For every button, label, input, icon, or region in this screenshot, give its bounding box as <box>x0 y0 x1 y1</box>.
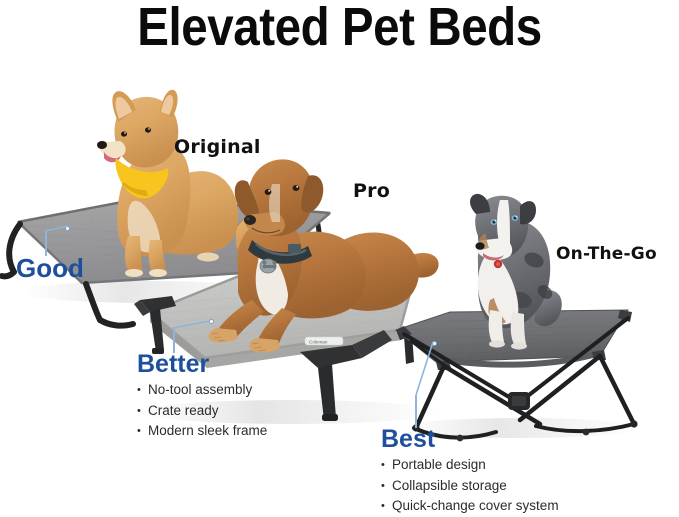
leader-diagonal-better <box>172 318 212 330</box>
product-comparison-image: Coleman <box>0 0 679 507</box>
dog-tag <box>260 259 276 273</box>
rating-label-best: Best <box>381 427 559 452</box>
pro-leg-left <box>134 296 176 354</box>
dog-australian-shepherd <box>470 194 562 350</box>
product-label-on-the-go: On-The-Go <box>556 244 657 264</box>
feature-item: Modern sleek frame <box>137 421 267 442</box>
callout-good: Good <box>16 255 84 281</box>
feature-item: Crate ready <box>137 401 267 422</box>
dog-brown-mix <box>209 159 439 352</box>
dog-shiba-inu <box>97 90 263 277</box>
product-label-original: Original <box>174 136 261 158</box>
leader-diagonal-good <box>44 224 70 232</box>
feature-item: No-tool assembly <box>137 380 267 401</box>
feature-list-on-the-go: Portable design Collapsible storage Quic… <box>381 455 559 517</box>
callout-best: Best Portable design Collapsible storage… <box>381 427 559 517</box>
feature-item: Portable design <box>381 455 559 476</box>
page-title: Elevated Pet Beds <box>41 0 639 58</box>
collar-tag <box>494 260 502 268</box>
svg-text:Coleman: Coleman <box>152 247 168 252</box>
feature-list-pro: No-tool assembly Crate ready Modern slee… <box>137 380 267 442</box>
product-label-pro: Pro <box>353 180 390 202</box>
dog-bandana <box>115 158 168 198</box>
pro-leg-right <box>300 330 392 421</box>
callout-better: Better No-tool assembly Crate ready Mode… <box>137 352 267 442</box>
leader-line-best <box>415 395 417 428</box>
rating-label-good: Good <box>16 255 84 281</box>
feature-item: Collapsible storage <box>381 476 559 497</box>
svg-text:Coleman: Coleman <box>309 340 328 345</box>
rating-label-better: Better <box>137 352 267 377</box>
feature-item: Quick-change cover system <box>381 496 559 517</box>
dog-collar <box>248 240 312 264</box>
leader-diagonal-best <box>414 340 436 398</box>
